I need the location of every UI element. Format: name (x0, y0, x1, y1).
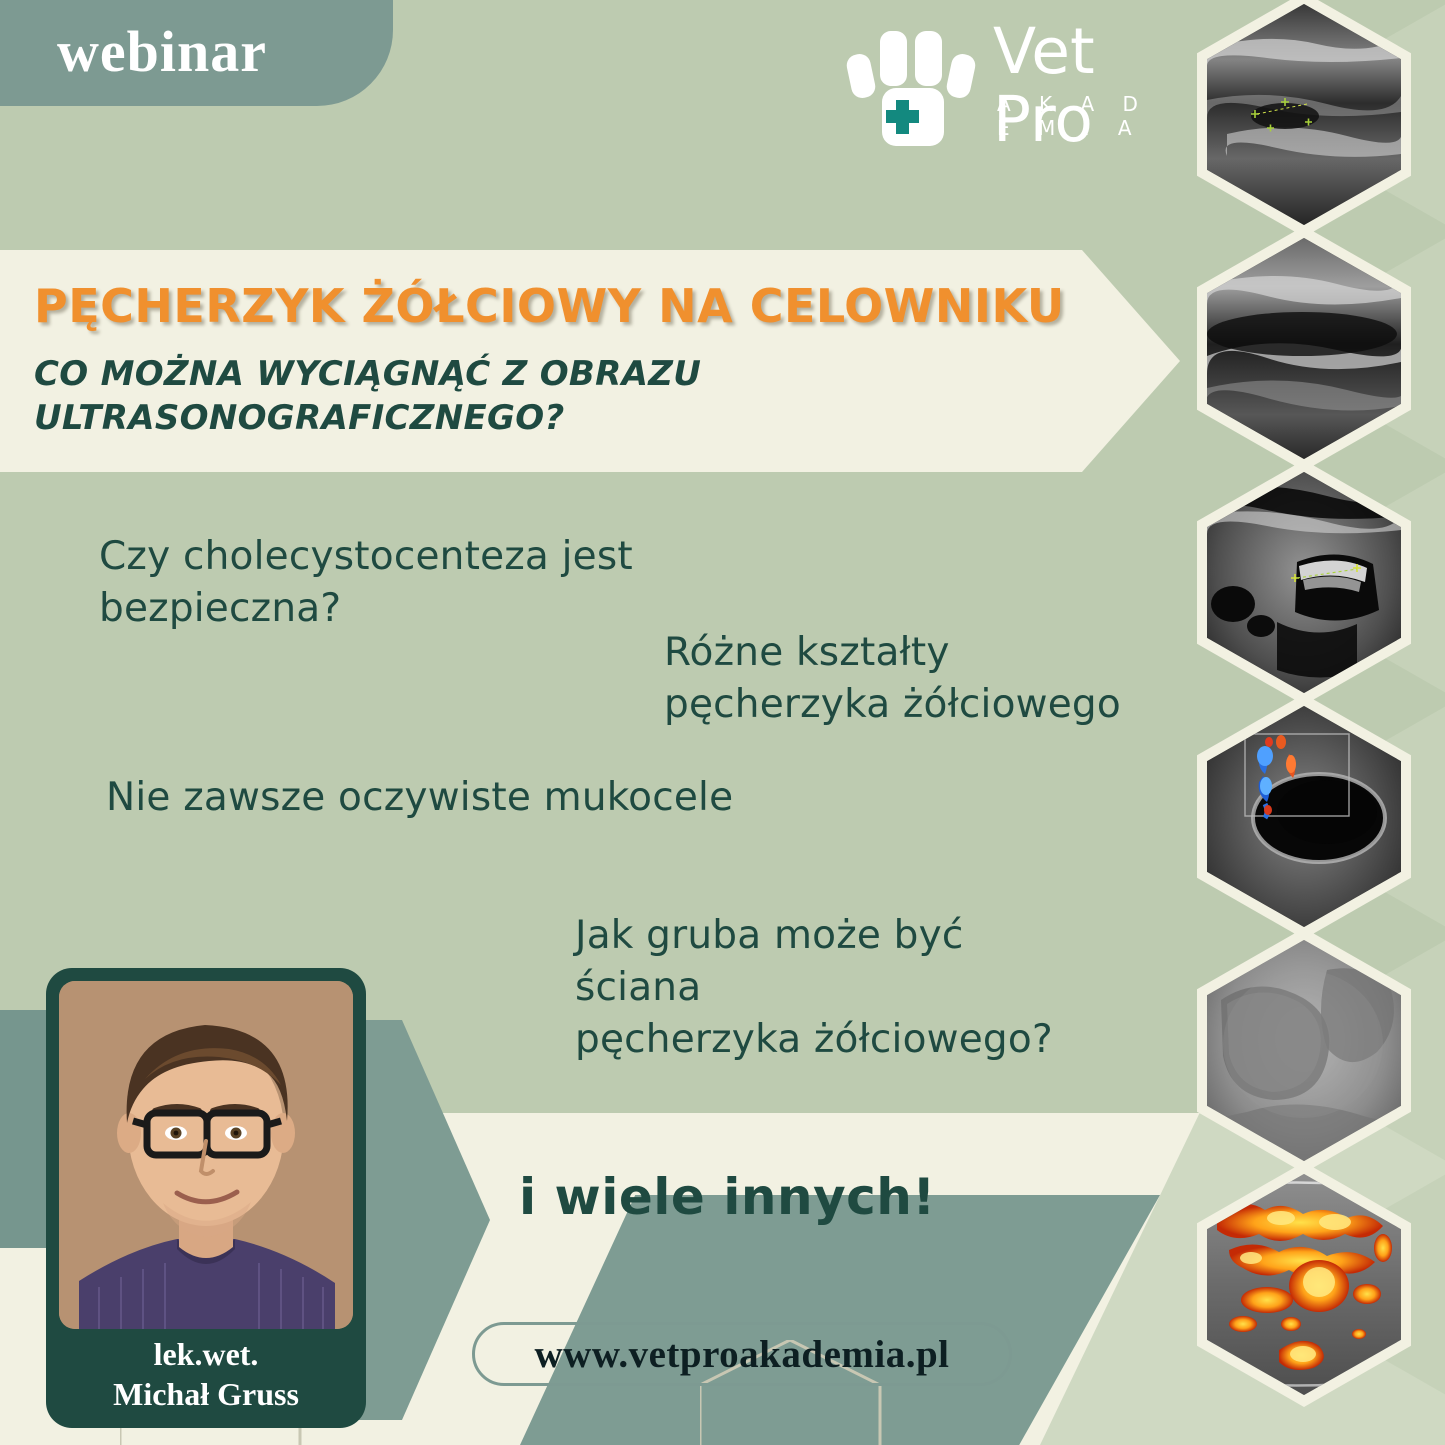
topic-item-1-line2: bezpieczna? (99, 583, 659, 635)
brand-logo: Vet Pro A K A D E M I A (845, 18, 1175, 120)
hex-image-5 (1197, 928, 1411, 1173)
topic-item-1-line1: Czy cholecystocenteza jest (99, 531, 659, 583)
topic-item-1: Czy cholecystocenteza jest bezpieczna? (99, 531, 659, 635)
presenter-name-line: Michał Gruss (46, 1374, 366, 1414)
topic-item-3: Nie zawsze oczywiste mukocele (106, 772, 746, 824)
hex-image-3 (1197, 460, 1411, 705)
logo-subtitle: A K A D E M I A (997, 92, 1175, 140)
page-title: PĘCHERZYK ŻÓŁCIOWY NA CELOWNIKU (34, 279, 1154, 333)
topic-item-4-line1: Jak gruba może być ściana (575, 910, 1095, 1014)
presenter-name: lek.wet. Michał Gruss (46, 1334, 366, 1414)
presenter-card: lek.wet. Michał Gruss (46, 968, 366, 1428)
presenter-title-line: lek.wet. (46, 1334, 366, 1374)
webinar-badge-label: webinar (0, 18, 267, 85)
topic-item-3-line1: Nie zawsze oczywiste mukocele (106, 772, 746, 824)
topic-item-2-line2: pęcherzyka żółciowego (664, 679, 1164, 731)
presenter-photo (59, 981, 353, 1329)
topic-item-4-line2: pęcherzyka żółciowego? (575, 1014, 1095, 1066)
page-subtitle-line1: CO MOŻNA WYCIĄGNĄĆ Z OBRAZU (34, 352, 1034, 396)
topic-item-2-line1: Różne kształty (664, 627, 1164, 679)
hex-image-1 (1197, 0, 1411, 237)
tagline: i wiele innych! (519, 1168, 936, 1226)
presenter-portrait-illustration (59, 981, 353, 1329)
website-url-label: www.vetproakademia.pl (535, 1332, 950, 1377)
hex-image-4 (1197, 694, 1411, 939)
website-url-pill[interactable]: www.vetproakademia.pl (472, 1322, 1012, 1386)
page-subtitle-line2: ULTRASONOGRAFICZNEGO? (34, 396, 1034, 440)
topic-item-2: Różne kształty pęcherzyka żółciowego (664, 627, 1164, 731)
hex-image-6 (1197, 1162, 1411, 1407)
page-subtitle: CO MOŻNA WYCIĄGNĄĆ Z OBRAZU ULTRASONOGRA… (34, 352, 1034, 440)
hex-image-2 (1197, 226, 1411, 471)
topic-item-4: Jak gruba może być ściana pęcherzyka żół… (575, 910, 1095, 1066)
poster-root: webinar Vet Pro A K A D E M I A PĘCHERZY… (0, 0, 1445, 1445)
webinar-badge: webinar (0, 0, 393, 106)
paw-print-medical-cross-icon (845, 22, 965, 117)
